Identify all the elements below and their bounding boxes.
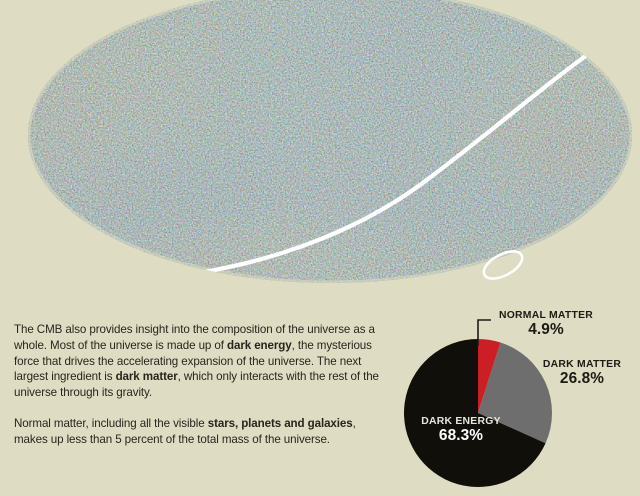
infographic-page: The CMB also provides insight into the c… xyxy=(0,0,640,496)
cmb-map-body xyxy=(0,0,640,310)
pie-label-dark-energy-value: 68.3% xyxy=(406,428,516,445)
paragraph-normal-matter: Normal matter, including all the visible… xyxy=(14,416,392,448)
pie-label-normal-matter-name: NORMAL MATTER xyxy=(486,310,606,321)
universe-composition-pie-chart: NORMAL MATTER 4.9% DARK MATTER 26.8% DAR… xyxy=(396,306,640,496)
pie-label-dark-matter-name: DARK MATTER xyxy=(528,359,636,370)
pie-label-dark-matter: DARK MATTER 26.8% xyxy=(528,359,636,388)
pie-label-dark-energy-name: DARK ENERGY xyxy=(406,416,516,427)
pie-label-dark-energy: DARK ENERGY 68.3% xyxy=(406,416,516,445)
pie-label-dark-matter-value: 26.8% xyxy=(528,371,636,388)
explanatory-text-block: The CMB also provides insight into the c… xyxy=(14,322,392,448)
pie-label-normal-matter-value: 4.9% xyxy=(486,322,606,339)
pie-label-normal-matter: NORMAL MATTER 4.9% xyxy=(486,310,606,339)
cmb-map-figure xyxy=(0,0,640,310)
cmb-map-image xyxy=(0,0,640,310)
paragraph-composition: The CMB also provides insight into the c… xyxy=(14,322,392,401)
